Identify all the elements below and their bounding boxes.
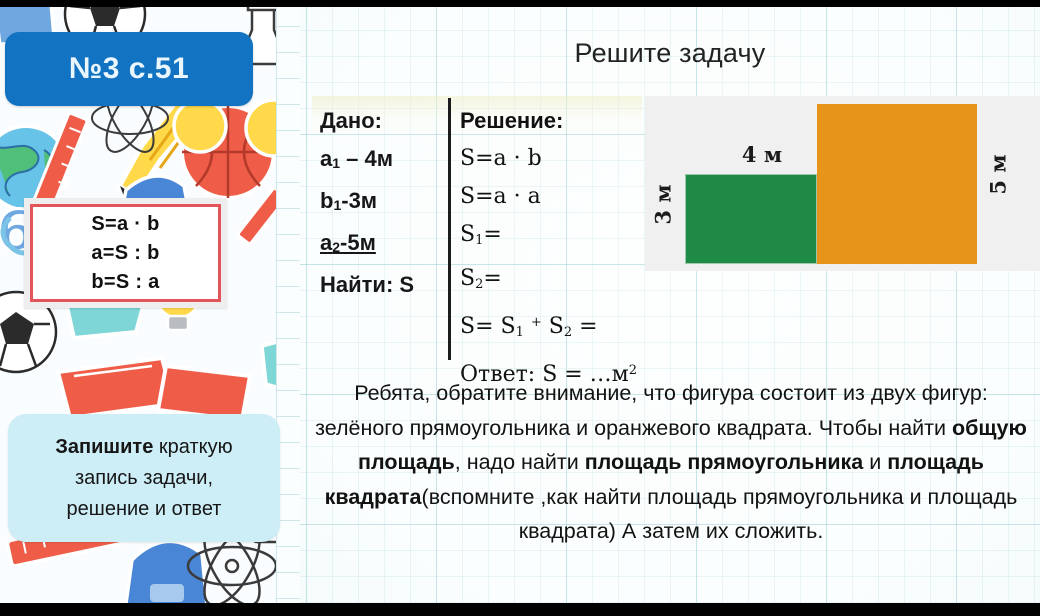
explanation-seg-4: (вспомните ,как найти площадь прямоуголь…: [422, 485, 1018, 544]
given-find: Найти: S: [320, 266, 440, 304]
formula-line-1: S=a · b: [91, 210, 159, 239]
solution-line-1: S=a · b: [460, 140, 650, 178]
instruction-bold-word: Запишите: [55, 436, 153, 458]
solution-column: Решение: S=a · b S=a · a S1= S2= S= S1 +…: [460, 102, 650, 394]
solution-line-2: S=a · a: [460, 178, 650, 216]
given-header: Дано:: [320, 102, 440, 140]
letterbox-top: [0, 0, 1040, 7]
formula-line-2: a=S : b: [91, 239, 159, 268]
orange-square: [817, 104, 977, 264]
instruction-line-3: решение и ответ: [67, 494, 222, 525]
left-sticker-panel: 6: [0, 0, 300, 616]
page-title: Решите задачу: [300, 38, 1040, 69]
given-row-1: a1 – 4м: [320, 140, 440, 182]
letterbox-bottom: [0, 603, 1040, 616]
explanation-seg-3: и: [863, 450, 887, 474]
instruction-bubble: Запишите краткую запись задачи, решение …: [8, 414, 280, 542]
given-row-2: b1-3м: [320, 182, 440, 224]
balloon-icon: [174, 100, 226, 152]
solution-total-line: S= S1 + S2 =: [460, 304, 650, 352]
main-worksheet-panel: Решите задачу Дано: a1 – 4м b1-3м a2-5м …: [300, 0, 1040, 616]
lesson-number-badge[interactable]: №3 с.51: [5, 32, 253, 106]
solution-header: Решение:: [460, 102, 650, 140]
green-width-label: 4 м: [707, 142, 817, 167]
notebook-icon: [158, 366, 250, 420]
orange-side-label: 5 м: [986, 154, 1011, 194]
column-divider: [448, 98, 451, 360]
formula-card: S=a · b a=S : b b=S : a: [24, 198, 227, 308]
given-row-3: a2-5м: [320, 224, 440, 266]
green-height-label: 3 м: [651, 184, 676, 224]
explanation-bold-2: площадь прямоугольника: [585, 450, 864, 474]
instruction-line-1-rest: краткую: [153, 436, 232, 458]
green-rectangle: [685, 174, 817, 264]
geometric-figure: 4 м 3 м 5 м: [645, 96, 1040, 271]
solution-line-3: S1=: [460, 216, 650, 260]
lesson-number-label: №3 с.51: [69, 52, 189, 86]
instruction-line-1: Запишите краткую: [55, 432, 232, 463]
given-column: Дано: a1 – 4м b1-3м a2-5м Найти: S: [320, 102, 440, 304]
explanation-paragraph: Ребята, обратите внимание, что фигура со…: [310, 376, 1032, 549]
explanation-seg-1: Ребята, обратите внимание, что фигура со…: [315, 381, 988, 440]
formula-line-3: b=S : a: [91, 268, 159, 297]
formula-card-inner: S=a · b a=S : b b=S : a: [30, 204, 221, 302]
instruction-line-2: запись задачи,: [75, 463, 213, 494]
solution-line-4: S2=: [460, 260, 650, 304]
solution-block: Дано: a1 – 4м b1-3м a2-5м Найти: S Решен…: [312, 96, 642, 368]
slide-root: 6: [0, 0, 1040, 616]
explanation-seg-2: , надо найти: [455, 450, 585, 474]
